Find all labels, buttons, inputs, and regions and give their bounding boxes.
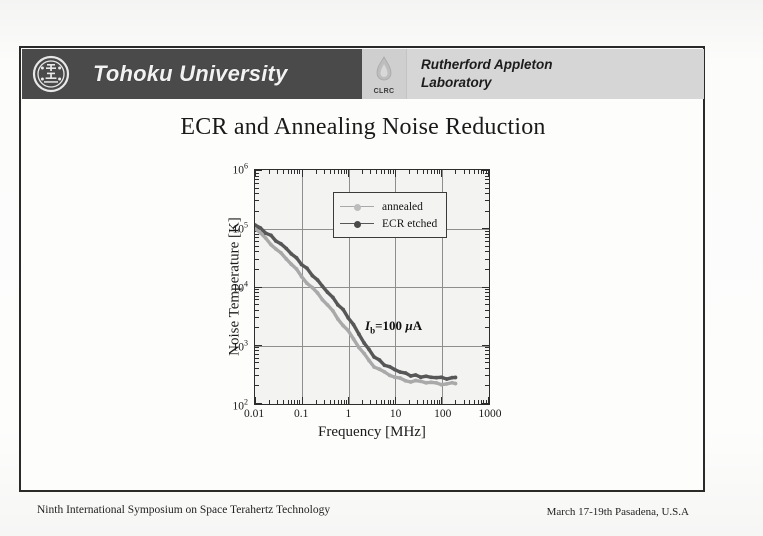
noise-temperature-chart: Noise Temperature [K] 106 105 104 103 10… — [199, 158, 499, 458]
slide-frame: Tohoku University CLRC Rutherford Applet… — [19, 46, 705, 492]
data-point — [398, 376, 402, 380]
data-point — [434, 381, 438, 385]
data-point — [331, 296, 335, 300]
data-point — [269, 233, 273, 237]
legend-label-ecr-etched: ECR etched — [382, 218, 437, 230]
data-point — [419, 379, 423, 383]
legend-marker-annealed — [340, 201, 374, 212]
data-point — [274, 239, 278, 243]
data-point — [383, 370, 387, 374]
y-tick — [482, 403, 489, 404]
data-point — [450, 376, 454, 380]
data-point — [404, 371, 408, 375]
y-axis-tick-labels: 106 105 104 103 102 — [199, 169, 252, 405]
university-name: Tohoku University — [93, 61, 288, 87]
data-point — [316, 291, 320, 295]
clrc-logo: CLRC — [362, 49, 407, 99]
data-point — [454, 376, 458, 380]
data-point — [445, 377, 449, 381]
data-point — [310, 274, 314, 278]
x-tick-label: 1000 — [479, 408, 502, 420]
data-point — [414, 379, 418, 383]
data-point — [341, 324, 345, 328]
data-point — [383, 363, 387, 367]
data-point — [336, 317, 340, 321]
header-lab-block: CLRC Rutherford Appleton Laboratory — [362, 49, 704, 99]
data-point — [440, 383, 444, 387]
data-point — [284, 257, 288, 261]
data-point — [346, 316, 350, 320]
legend-item-ecr-etched: ECR etched — [340, 215, 437, 232]
legend-label-annealed: annealed — [382, 201, 423, 213]
x-tick-label: 1 — [346, 408, 352, 420]
data-point — [357, 346, 361, 350]
data-point — [336, 303, 340, 307]
data-point — [316, 278, 320, 282]
data-point — [295, 267, 299, 271]
data-point — [424, 374, 428, 378]
data-point — [409, 374, 413, 378]
data-point — [352, 323, 356, 327]
data-point — [321, 284, 325, 288]
data-point — [362, 352, 366, 356]
data-point — [305, 281, 309, 285]
x-axis-tick-labels: 0.01 0.1 1 10 100 1000 — [254, 408, 490, 424]
data-point — [429, 375, 433, 379]
clrc-flame-icon — [371, 55, 397, 90]
header-university-block: Tohoku University — [22, 49, 362, 99]
y-tick-label: 104 — [233, 280, 249, 295]
data-point — [362, 341, 366, 345]
data-point — [404, 379, 408, 383]
data-point — [378, 358, 382, 362]
data-point — [419, 375, 423, 379]
data-point — [274, 247, 278, 251]
y-tick — [255, 403, 262, 404]
data-point — [398, 370, 402, 374]
data-point — [300, 263, 304, 267]
page-title: ECR and Annealing Noise Reduction — [21, 114, 705, 141]
data-point — [305, 266, 309, 270]
lab-name-line1: Rutherford Appleton — [421, 56, 552, 74]
data-point — [289, 252, 293, 256]
x-tick-label: 100 — [434, 408, 451, 420]
data-point — [279, 251, 283, 255]
data-point — [258, 226, 262, 230]
data-point — [388, 373, 392, 377]
data-point — [357, 332, 361, 336]
x-tick-label: 0.1 — [294, 408, 308, 420]
x-tick-label: 10 — [390, 408, 402, 420]
data-point — [409, 380, 413, 384]
data-point — [393, 368, 397, 372]
data-point — [331, 309, 335, 313]
footer-date-location: March 17-19th Pasadena, U.S.A — [547, 506, 689, 518]
plot-area: annealed ECR etched Ib=100 µA — [254, 169, 490, 405]
data-point — [326, 303, 330, 307]
data-point — [378, 367, 382, 371]
data-point — [393, 375, 397, 379]
chart-legend: annealed ECR etched — [333, 192, 447, 238]
data-point — [341, 308, 345, 312]
data-point — [440, 375, 444, 379]
data-point — [352, 337, 356, 341]
data-point — [289, 262, 293, 266]
data-point — [434, 376, 438, 380]
data-point — [269, 243, 273, 247]
data-point — [424, 381, 428, 385]
legend-item-annealed: annealed — [340, 198, 437, 215]
y-tick-label: 106 — [233, 162, 249, 177]
x-tick-label: 0.01 — [244, 408, 264, 420]
data-point — [367, 359, 371, 363]
data-point — [264, 236, 268, 240]
tohoku-seal-icon — [31, 54, 71, 94]
data-point — [450, 381, 454, 385]
data-point — [346, 329, 350, 333]
footer-symposium: Ninth International Symposium on Space T… — [37, 504, 330, 516]
data-point — [445, 382, 449, 386]
series-line-annealed — [255, 229, 455, 385]
data-point — [300, 275, 304, 279]
data-point — [310, 286, 314, 290]
data-point — [279, 242, 283, 246]
data-point — [388, 365, 392, 369]
data-point — [372, 365, 376, 369]
data-point — [372, 355, 376, 359]
lab-name-line2: Laboratory — [421, 74, 552, 92]
data-point — [284, 247, 288, 251]
data-point — [326, 290, 330, 294]
bias-current-annotation: Ib=100 µA — [365, 318, 422, 336]
y-tick-label: 105 — [233, 221, 249, 236]
data-point — [321, 298, 325, 302]
data-point — [264, 231, 268, 235]
data-point — [429, 380, 433, 384]
data-point — [295, 256, 299, 260]
lab-name: Rutherford Appleton Laboratory — [421, 56, 552, 92]
y-tick-label: 103 — [233, 339, 249, 354]
slide-header: Tohoku University CLRC Rutherford Applet… — [22, 49, 704, 99]
data-point — [454, 382, 458, 386]
clrc-logo-text: CLRC — [374, 88, 395, 95]
x-axis-title: Frequency [MHz] — [254, 424, 490, 441]
data-point — [367, 347, 371, 351]
data-point — [414, 373, 418, 377]
legend-marker-ecr-etched — [340, 218, 374, 229]
